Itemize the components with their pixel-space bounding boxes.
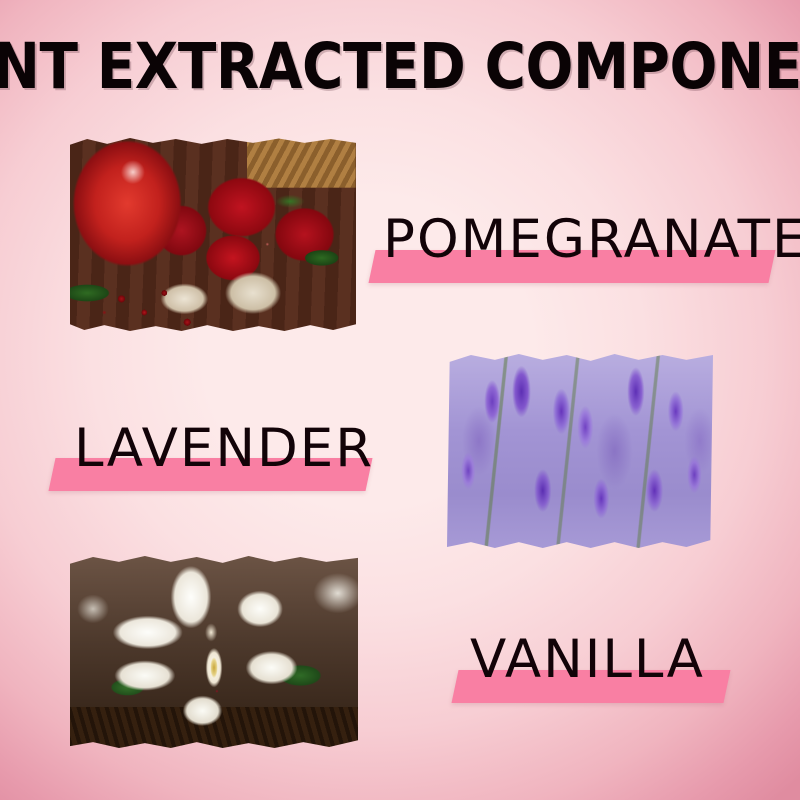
pomegranate-photo bbox=[70, 137, 356, 332]
label-text-vanilla: VANILLA bbox=[450, 633, 770, 686]
lavender-photo bbox=[447, 352, 713, 550]
label-lavender: LAVENDER bbox=[47, 414, 387, 500]
poster-canvas: PLANT EXTRACTED COMPONENTS POMEGRANATE L… bbox=[0, 0, 800, 800]
vanilla-photo bbox=[70, 554, 358, 750]
label-text-pomegranate: POMEGRANATE bbox=[367, 213, 800, 266]
page-title: PLANT EXTRACTED COMPONENTS bbox=[51, 36, 749, 98]
label-text-lavender: LAVENDER bbox=[47, 422, 414, 475]
label-vanilla: VANILLA bbox=[450, 624, 750, 710]
label-pomegranate: POMEGRANATE bbox=[367, 204, 787, 290]
